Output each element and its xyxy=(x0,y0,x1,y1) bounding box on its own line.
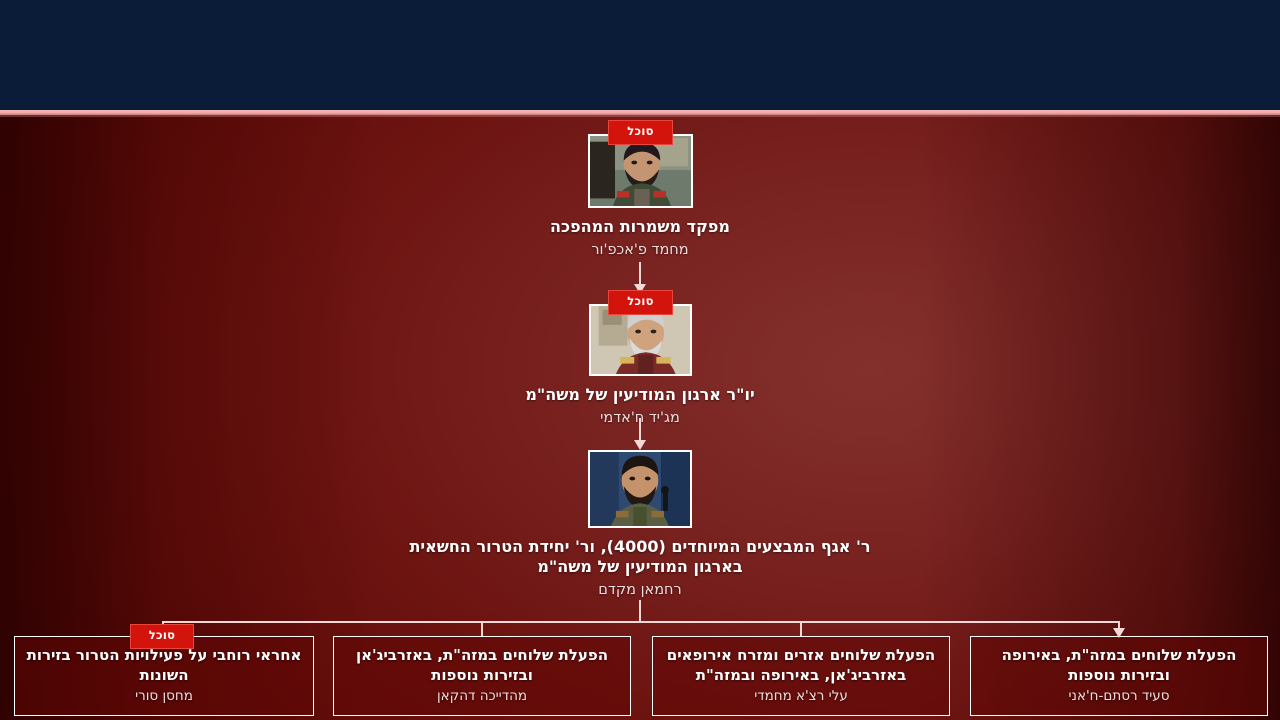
leaf-title-line2: ובזירות נוספות xyxy=(1068,666,1170,686)
status-badge-thwarted: סוכל xyxy=(130,624,194,649)
node-title-line1: ר' אגף המבצעים המיוחדים (4000), ור' יחיד… xyxy=(380,537,900,557)
leaf-title-line1: הפעלת שלוחים במזה"ת, באירופה xyxy=(1002,646,1237,666)
node-person-name: רחמאן מקדם xyxy=(380,581,900,599)
slide-canvas: מדינת ישראל המוסד למודיעין ולתפקידים מיו… xyxy=(0,0,1280,720)
connector-leaves-horizontal-bar xyxy=(162,621,1118,623)
leaf-person-name: עלי רצ'א מחמדי xyxy=(754,688,848,706)
leaf-person-name: מהדייכה דהקאן xyxy=(437,688,527,706)
connector-node1-node2 xyxy=(639,262,641,286)
leaf-title-line2: ובזירות נוספות xyxy=(431,666,533,686)
leaf-proxies-mideast-azerbaijan[interactable]: הפעלת שלוחים במזה"ת, באזרביג'אן ובזירות … xyxy=(333,636,631,716)
status-badge-thwarted: סוכל xyxy=(608,290,673,315)
leaf-title-line1: הפעלת שלוחים אזרים ומזרח אירופאים xyxy=(667,646,935,666)
connector-drop-leaf-3 xyxy=(800,621,802,636)
slide-header xyxy=(0,0,1280,110)
connector-node2-node3 xyxy=(639,418,641,442)
portrait-special-operations-head xyxy=(588,450,692,528)
node-revolutionary-guard-commander[interactable]: סוכל מפקד משמרות המהפכה מחמד פ'אכפ'ור xyxy=(460,120,820,259)
node-person-name: מחמד פ'אכפ'ור xyxy=(460,241,820,259)
leaf-title-line1: הפעלת שלוחים במזה"ת, באזרביג'אן xyxy=(356,646,608,666)
header-divider-rule-secondary xyxy=(0,115,1280,117)
connector-node3-trunk xyxy=(639,600,641,622)
connector-drop-leaf-2 xyxy=(481,621,483,636)
node-special-operations-head[interactable]: ר' אגף המבצעים המיוחדים (4000), ור' יחיד… xyxy=(380,450,900,599)
leaf-person-name: מחסן סורי xyxy=(135,688,193,706)
connector-arrow-leaf-4 xyxy=(1113,628,1125,638)
leaf-proxies-azeri-east-european[interactable]: הפעלת שלוחים אזרים ומזרח אירופאים באזרבי… xyxy=(652,636,950,716)
portrait-intelligence-organization-chairman xyxy=(589,304,692,376)
node-title-line2: בארגון המודיעין של משה"מ xyxy=(380,557,900,577)
leaf-person-name: סעיד רסתם-ח'אני xyxy=(1069,688,1170,706)
node-intelligence-organization-chairman[interactable]: סוכל יו"ר ארגון המודיעין של משה"מ מג'יד … xyxy=(460,290,820,427)
connector-arrow-node2-node3 xyxy=(634,440,646,450)
status-badge-thwarted: סוכל xyxy=(608,120,673,145)
leaf-title-line2: השונות xyxy=(139,666,188,686)
leaf-title-line1: אחראי רוחבי על פעילויות הטרור בזירות xyxy=(27,646,302,666)
leaf-title-line2: באזרביג'אן, באירופה ובמזה"ת xyxy=(696,666,907,686)
node-title: יו"ר ארגון המודיעין של משה"מ xyxy=(460,385,820,405)
leaf-proxies-mideast-europe[interactable]: הפעלת שלוחים במזה"ת, באירופה ובזירות נוס… xyxy=(970,636,1268,716)
portrait-revolutionary-guard-commander xyxy=(588,134,693,208)
node-title: מפקד משמרות המהפכה xyxy=(460,217,820,237)
